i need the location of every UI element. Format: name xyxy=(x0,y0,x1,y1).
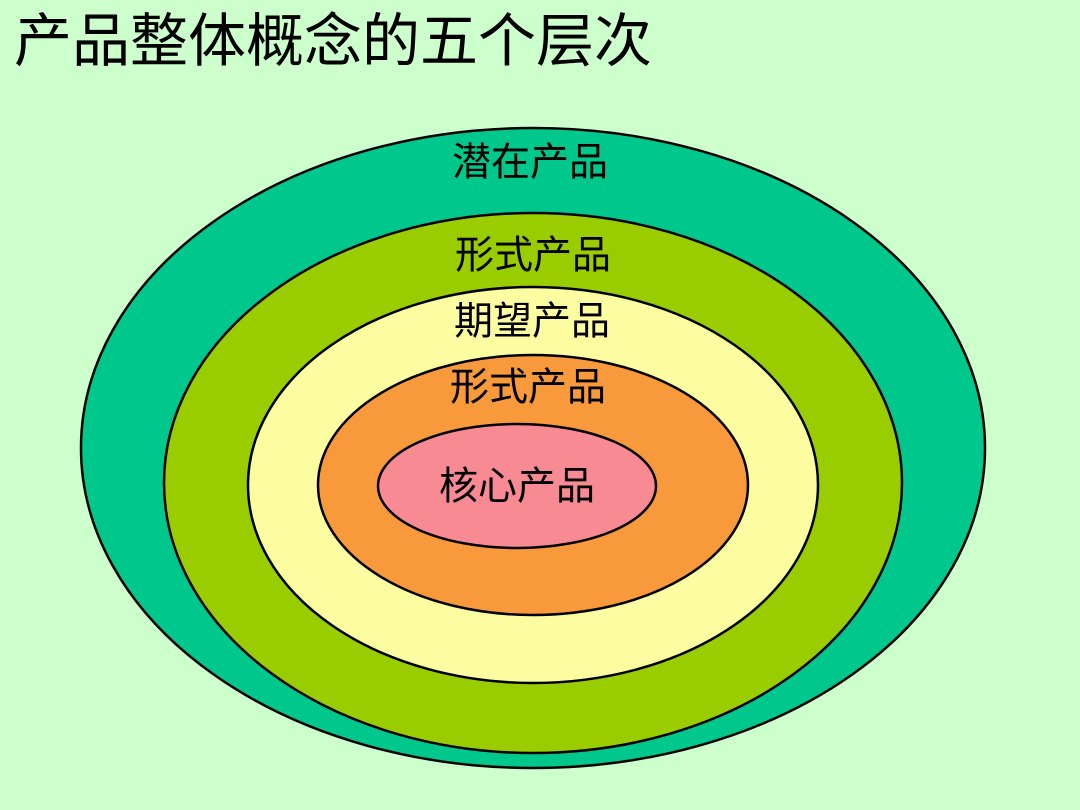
layer-label-formal-product-inner: 形式产品 xyxy=(450,369,606,408)
layer-label-core-product: 核心产品 xyxy=(439,468,595,507)
layer-label-expected-product: 期望产品 xyxy=(454,303,610,342)
layer-label-potential-product: 潜在产品 xyxy=(452,144,608,183)
slide-canvas: 产品整体概念的五个层次 潜在产品 形式产品 期望产品 形式产品 核心产品 xyxy=(0,0,1080,810)
layer-label-formal-product-outer: 形式产品 xyxy=(455,237,611,276)
